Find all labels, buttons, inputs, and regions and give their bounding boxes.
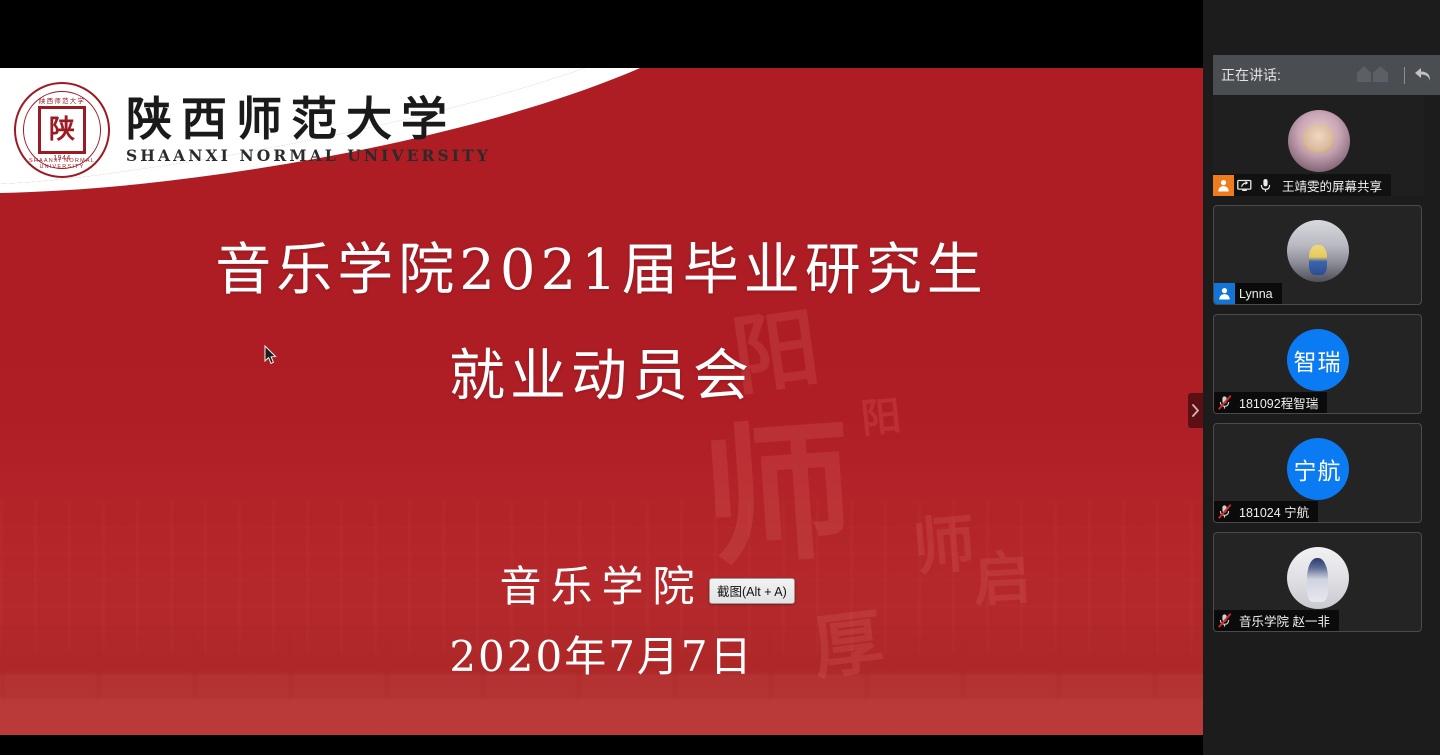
participant-label: 181024 宁航	[1214, 501, 1318, 522]
participant-name: Lynna	[1235, 287, 1282, 301]
mic-icon-badge	[1255, 175, 1276, 196]
presentation-slide: 阳 阳 师 师 启 厚 陕西师范大学 陕 1944	[0, 68, 1203, 745]
seal-character: 陕	[38, 106, 86, 154]
participant-tile[interactable]: 音乐学院 赵一非	[1213, 532, 1422, 632]
chevrons-icon[interactable]	[1355, 66, 1395, 84]
university-name-cn: 陕西师范大学	[126, 95, 491, 143]
collapse-panel-button[interactable]	[1188, 393, 1203, 428]
mic-muted-icon-badge	[1214, 610, 1235, 631]
panel-header: 正在讲话:	[1213, 55, 1440, 95]
meeting-window: 阳 阳 师 师 启 厚 陕西师范大学 陕 1944	[0, 0, 1440, 755]
header-divider	[1404, 67, 1405, 84]
participant-name: 音乐学院 赵一非	[1235, 611, 1339, 630]
participant-tile[interactable]: 王靖雯的屏幕共享	[1213, 95, 1424, 196]
participants-panel: 正在讲话: 王靖雯的屏幕共享Lynna智瑞181092程智瑞宁航181024 宁…	[1203, 0, 1440, 755]
screen-share-icon	[1237, 179, 1252, 192]
university-wordmark: 陕西师范大学 SHAANXI NORMAL UNIVERSITY	[126, 95, 491, 164]
screen-share-icon-badge	[1234, 175, 1255, 196]
participant-name: 王靖雯的屏幕共享	[1276, 176, 1391, 195]
participant-tile[interactable]: 智瑞181092程智瑞	[1213, 314, 1422, 414]
participant-label: Lynna	[1214, 283, 1282, 304]
mic-muted-icon	[1218, 613, 1232, 628]
university-seal-icon: 陕西师范大学 陕 1944 SHAANXI NORMAL UNIVERSITY	[14, 82, 110, 178]
participant-tile[interactable]: 宁航181024 宁航	[1213, 423, 1422, 523]
seal-arc-bottom-text: SHAANXI NORMAL UNIVERSITY	[16, 158, 108, 170]
participant-label: 王靖雯的屏幕共享	[1213, 174, 1391, 196]
participant-tile[interactable]: Lynna	[1213, 205, 1422, 305]
avatar	[1287, 547, 1349, 609]
university-name-en: SHAANXI NORMAL UNIVERSITY	[126, 146, 491, 165]
mic-muted-icon	[1218, 395, 1232, 410]
participant-tile-list[interactable]: 王靖雯的屏幕共享Lynna智瑞181092程智瑞宁航181024 宁航音乐学院 …	[1213, 95, 1440, 755]
seal-arc-top-text: 陕西师范大学	[16, 95, 108, 105]
mic-muted-icon	[1218, 504, 1232, 519]
university-logo: 陕西师范大学 陕 1944 SHAANXI NORMAL UNIVERSITY …	[14, 82, 491, 178]
slide-title-line-1: 音乐学院2021届毕业研究生	[0, 218, 1203, 324]
avatar	[1287, 220, 1349, 282]
back-arrow-icon[interactable]	[1414, 67, 1432, 83]
slide-bottom-letterbox	[0, 735, 1203, 745]
participant-name: 181092程智瑞	[1235, 393, 1327, 412]
person-icon-badge	[1213, 175, 1234, 196]
slide-organization: 音乐学院	[0, 553, 1203, 614]
mic-icon	[1260, 178, 1271, 193]
chevron-right-icon	[1192, 404, 1200, 417]
mic-muted-icon-badge	[1214, 501, 1235, 522]
shared-screen-area[interactable]: 阳 阳 师 师 启 厚 陕西师范大学 陕 1944	[0, 0, 1203, 755]
screenshot-tooltip: 截图(Alt + A)	[709, 578, 795, 604]
panel-header-actions	[1355, 66, 1432, 84]
mic-muted-icon-badge	[1214, 392, 1235, 413]
avatar: 智瑞	[1287, 329, 1349, 391]
slide-header-band: 陕西师范大学 陕 1944 SHAANXI NORMAL UNIVERSITY …	[0, 68, 1203, 196]
avatar	[1288, 110, 1350, 172]
person-icon-badge	[1214, 283, 1235, 304]
slide-title: 音乐学院2021届毕业研究生 就业动员会	[0, 218, 1203, 431]
person-icon	[1217, 179, 1230, 192]
avatar: 宁航	[1287, 438, 1349, 500]
participant-label: 音乐学院 赵一非	[1214, 610, 1339, 631]
slide-title-line-2: 就业动员会	[0, 324, 1203, 430]
slide-date: 2020年7月7日	[0, 623, 1203, 684]
participant-name: 181024 宁航	[1235, 502, 1318, 521]
participant-label: 181092程智瑞	[1214, 392, 1327, 413]
speaking-now-label: 正在讲话:	[1221, 65, 1355, 85]
person-icon	[1218, 287, 1231, 300]
